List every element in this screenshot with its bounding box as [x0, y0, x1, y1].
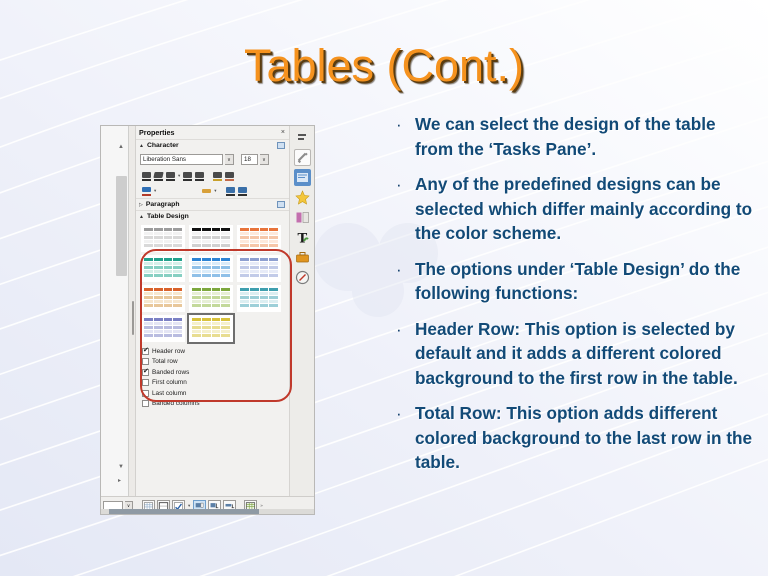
- scroll-up-arrow[interactable]: ▲: [118, 144, 124, 150]
- subscript-icon[interactable]: [237, 185, 248, 196]
- section-header-character[interactable]: ▲ Character: [136, 139, 289, 151]
- section-label-paragraph: Paragraph: [146, 201, 180, 208]
- checkbox-label: Header row: [152, 348, 185, 355]
- checkbox-box[interactable]: [142, 390, 149, 397]
- properties-panel: Properties × ▲ Character Liberation Sans…: [136, 126, 289, 496]
- bullet-text: The options under ‘Table Design’ do the …: [415, 257, 755, 306]
- vertical-scrollbar-thumb[interactable]: [116, 176, 127, 276]
- bullet-item: · Header Row: This option is selected by…: [393, 317, 755, 391]
- font-size-input[interactable]: 18: [241, 154, 258, 165]
- checkbox-banded-rows[interactable]: Banded rows: [142, 367, 284, 378]
- checkbox-box[interactable]: [142, 400, 149, 407]
- slide-title: Tables (Cont.): [0, 40, 768, 92]
- increase-font-size-icon[interactable]: [212, 170, 223, 181]
- checkbox-label: First column: [152, 379, 187, 386]
- checkbox-banded-columns[interactable]: Banded columns: [142, 399, 284, 410]
- table-toolbar: ∨ ▾ »: [101, 496, 314, 514]
- gallery-briefcase-icon[interactable]: [294, 249, 311, 266]
- checkbox-box[interactable]: [142, 348, 149, 355]
- horizontal-scrollbar-thumb[interactable]: [109, 509, 259, 515]
- animation-star-icon[interactable]: [294, 189, 311, 206]
- bullet-text: Total Row: This option adds different co…: [415, 401, 755, 475]
- table-style-light-blue-gray[interactable]: [237, 255, 281, 282]
- slide-transition-icon[interactable]: [294, 209, 311, 226]
- table-style-blue[interactable]: [189, 255, 233, 282]
- bullet-marker: ·: [393, 317, 415, 391]
- strikethrough-icon[interactable]: [182, 170, 193, 181]
- bullet-text: Any of the predefined designs can be sel…: [415, 172, 755, 246]
- panel-titlebar: Properties ×: [136, 126, 289, 139]
- table-style-default-gray[interactable]: [141, 225, 185, 252]
- checkbox-box[interactable]: [142, 358, 149, 365]
- properties-wrench-icon[interactable]: [294, 149, 311, 166]
- master-slides-icon[interactable]: [294, 169, 311, 186]
- toolbar-overflow-icon[interactable]: »: [260, 503, 263, 508]
- section-header-paragraph[interactable]: ▷ Paragraph: [136, 198, 289, 210]
- checkbox-label: Banded rows: [152, 369, 189, 376]
- bullet-marker: ·: [393, 401, 415, 475]
- bullet-marker: ·: [393, 172, 415, 246]
- navigator-compass-icon[interactable]: [294, 269, 311, 286]
- section-header-table-design[interactable]: ▲ Table Design: [136, 210, 289, 222]
- chevron-down-icon: ▲: [139, 143, 144, 149]
- font-color-icon[interactable]: [141, 185, 152, 196]
- character-format-icons-row-1: ▾: [136, 168, 289, 183]
- table-style-yellow[interactable]: [189, 315, 233, 342]
- table-style-lavender[interactable]: [141, 315, 185, 342]
- italic-icon[interactable]: [153, 170, 164, 181]
- decrease-font-size-icon[interactable]: [224, 170, 235, 181]
- table-style-orange[interactable]: [237, 225, 281, 252]
- section-label-table-design: Table Design: [147, 213, 189, 220]
- checkbox-label: Banded columns: [152, 400, 200, 407]
- font-size-dropdown-icon[interactable]: ∨: [260, 154, 269, 165]
- bullet-text: Header Row: This option is selected by d…: [415, 317, 755, 391]
- character-format-icons-row-2: ▾ ▾: [136, 183, 289, 198]
- table-options-checkbox-list: Header rowTotal rowBanded rowsFirst colu…: [136, 344, 289, 411]
- close-icon[interactable]: ×: [281, 129, 285, 136]
- character-dialog-icon[interactable]: [277, 142, 285, 149]
- highlighting-dropdown-icon[interactable]: ▾: [214, 188, 216, 194]
- bullet-item: · We can select the design of the table …: [393, 112, 755, 161]
- expand-arrow[interactable]: ▸: [118, 477, 121, 484]
- shadow-icon[interactable]: [194, 170, 205, 181]
- bullet-item: · The options under ‘Table Design’ do th…: [393, 257, 755, 306]
- section-label-character: Character: [147, 142, 179, 149]
- table-style-dark-black[interactable]: [189, 225, 233, 252]
- checkbox-last-column[interactable]: Last column: [142, 388, 284, 399]
- checkbox-header-row[interactable]: Header row: [142, 346, 284, 357]
- bold-icon[interactable]: [141, 170, 152, 181]
- font-controls-row: Liberation Sans ∨ 18 ∨: [136, 151, 289, 168]
- font-name-input[interactable]: Liberation Sans: [140, 154, 223, 165]
- horizontal-scrollbar[interactable]: [101, 509, 314, 515]
- bullet-marker: ·: [393, 257, 415, 306]
- checkbox-box[interactable]: [142, 379, 149, 386]
- splitter-grip[interactable]: [132, 301, 134, 335]
- table-style-orange-tan[interactable]: [141, 285, 185, 312]
- font-color-dropdown-icon[interactable]: ▾: [154, 188, 156, 194]
- border-style-dropdown-icon[interactable]: ▾: [188, 503, 190, 509]
- underline-dropdown-icon[interactable]: ▾: [178, 173, 180, 179]
- bullet-item: · Total Row: This option adds different …: [393, 401, 755, 475]
- bullet-item: · Any of the predefined designs can be s…: [393, 172, 755, 246]
- checkbox-box[interactable]: [142, 369, 149, 376]
- checkbox-label: Total row: [152, 358, 178, 365]
- bullet-text: We can select the design of the table fr…: [415, 112, 755, 161]
- checkbox-total-row[interactable]: Total row: [142, 357, 284, 368]
- chevron-right-icon: ▷: [139, 202, 143, 208]
- superscript-icon[interactable]: [225, 185, 236, 196]
- sidebar-settings-icon[interactable]: [294, 129, 311, 146]
- sidebar-tab-rail: T: [289, 126, 314, 496]
- bullet-marker: ·: [393, 112, 415, 161]
- checkbox-label: Last column: [152, 390, 186, 397]
- workspace-strip: ▲ ▼ ▸: [101, 126, 129, 496]
- sidebar-screenshot-image: ▲ ▼ ▸ Properties × ▲ Character Liberatio…: [100, 125, 315, 515]
- underline-icon[interactable]: [165, 170, 176, 181]
- table-design-gallery: [136, 222, 289, 344]
- table-style-green[interactable]: [189, 285, 233, 312]
- font-name-dropdown-icon[interactable]: ∨: [225, 154, 234, 165]
- table-style-teal-green[interactable]: [141, 255, 185, 282]
- highlighting-color-icon[interactable]: [201, 185, 212, 196]
- slide-body-bullets: · We can select the design of the table …: [393, 112, 755, 486]
- chevron-down-icon: ▲: [139, 214, 144, 220]
- panel-title: Properties: [139, 128, 175, 137]
- checkbox-first-column[interactable]: First column: [142, 378, 284, 389]
- table-style-teal-blue[interactable]: [237, 285, 281, 312]
- scroll-down-arrow[interactable]: ▼: [118, 464, 124, 470]
- styles-T-icon[interactable]: T: [294, 229, 311, 246]
- paragraph-dialog-icon[interactable]: [277, 201, 285, 208]
